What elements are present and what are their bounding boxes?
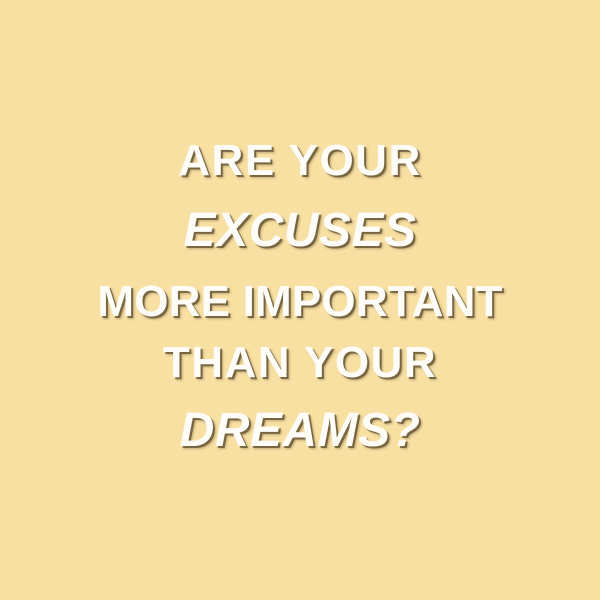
quote-line-2-emphasis: EXCUSES bbox=[0, 207, 600, 255]
quote-text-block: ARE YOUR EXCUSES MORE IMPORTANT THAN YOU… bbox=[0, 139, 600, 455]
quote-line-3: MORE IMPORTANT bbox=[0, 280, 600, 324]
quote-image-canvas: ARE YOUR EXCUSES MORE IMPORTANT THAN YOU… bbox=[0, 0, 600, 600]
quote-line-4: THAN YOUR bbox=[0, 341, 600, 385]
quote-line-5-emphasis: DREAMS? bbox=[0, 407, 600, 455]
quote-line-1: ARE YOUR bbox=[0, 139, 600, 183]
